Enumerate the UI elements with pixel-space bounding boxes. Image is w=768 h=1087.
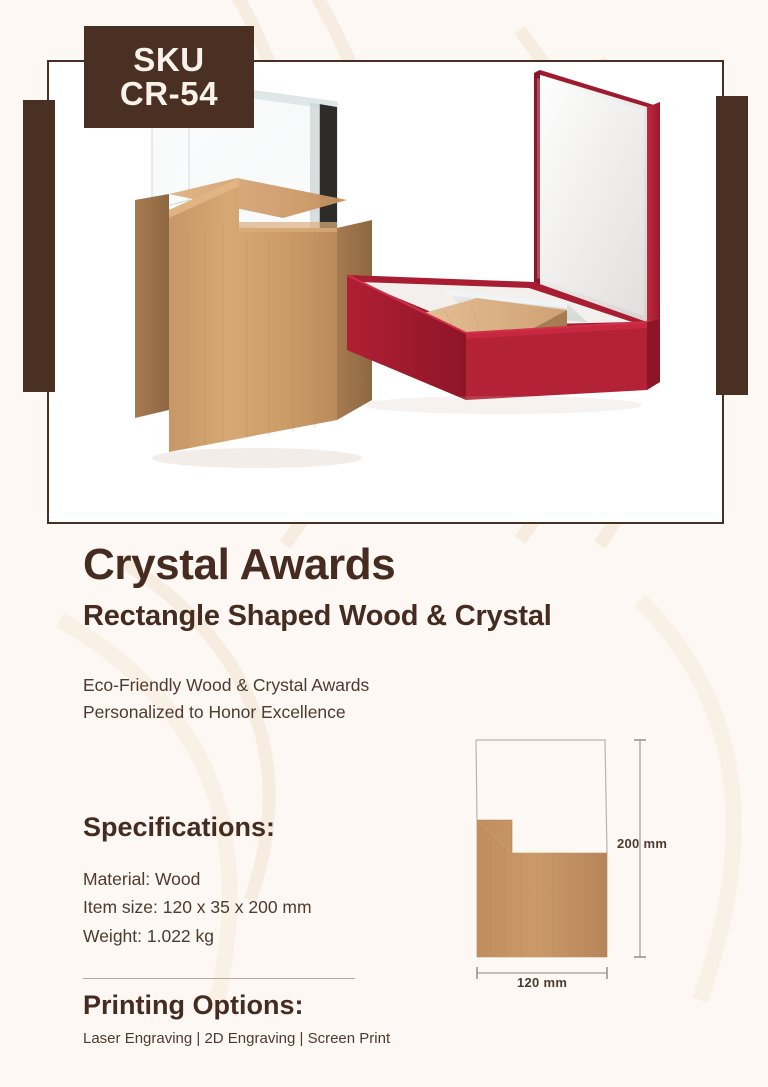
hero-frame-border	[47, 60, 724, 524]
product-spec-sheet: SKU CR-54 Crystal Awards Rectangle Shape…	[0, 0, 768, 1087]
description-line-1: Eco-Friendly Wood & Crystal Awards	[83, 672, 369, 699]
description-line-2: Personalized to Honor Excellence	[83, 699, 369, 726]
spec-item-size: Item size: 120 x 35 x 200 mm	[83, 893, 312, 921]
accent-bar-left	[23, 100, 55, 392]
specifications-heading: Specifications:	[83, 812, 275, 843]
accent-bar-right	[716, 96, 748, 395]
page-subtitle: Rectangle Shaped Wood & Crystal	[83, 600, 552, 633]
spec-weight: Weight: 1.022 kg	[83, 922, 312, 950]
spec-material: Material: Wood	[83, 865, 312, 893]
page-title: Crystal Awards	[83, 540, 395, 590]
dimension-label-height: 200 mm	[617, 836, 667, 851]
dimension-label-width: 120 mm	[517, 975, 567, 990]
sku-code: CR-54	[120, 77, 218, 111]
printing-options-list: Laser Engraving | 2D Engraving | Screen …	[83, 1030, 390, 1047]
printing-options-heading: Printing Options:	[83, 990, 303, 1021]
sku-badge: SKU CR-54	[84, 26, 254, 128]
technical-drawing	[455, 725, 680, 1000]
specifications-list: Material: Wood Item size: 120 x 35 x 200…	[83, 865, 312, 950]
product-description: Eco-Friendly Wood & Crystal Awards Perso…	[83, 672, 369, 726]
section-divider	[83, 978, 355, 979]
sku-label: SKU	[133, 43, 204, 77]
